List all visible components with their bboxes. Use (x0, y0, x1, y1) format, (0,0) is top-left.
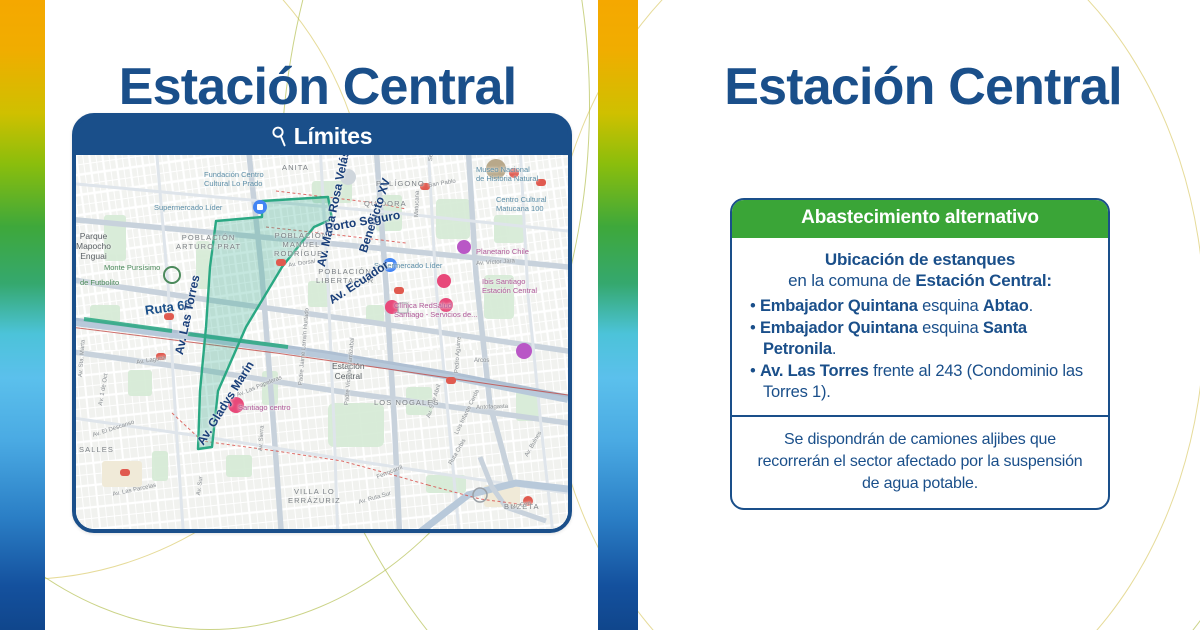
right-panel: Estación Central Abastecimiento alternat… (638, 0, 1200, 630)
info-card-body: Ubicación de estanques en la comuna de E… (732, 238, 1108, 415)
info-list-item: • Av. Las Torres frente al 243 (Condomin… (750, 361, 1090, 403)
info-list: • Embajador Quintana esquina Abtao.• Emb… (750, 296, 1090, 402)
info-item-strong: Embajador Quintana (760, 297, 918, 315)
map-card-header-label: Límites (294, 123, 372, 150)
info-item-strong: Av. Las Torres (760, 362, 869, 380)
info-item-text: esquina (918, 297, 983, 315)
info-item-text: esquina (918, 319, 983, 337)
info-card: Abastecimiento alternativo Ubicación de … (730, 198, 1110, 510)
location-pin-icon (272, 126, 287, 147)
bullet-icon: • (750, 297, 760, 315)
gradient-bar-left (0, 0, 45, 630)
infographic-root: Estación Central Límites (0, 0, 1200, 630)
left-panel: Estación Central Límites (45, 0, 598, 630)
info-item-strong: Abtao (983, 297, 1029, 315)
map-card: Límites (72, 113, 572, 533)
info-intro-line-1: Ubicación de estanques (750, 250, 1090, 271)
info-list-item: • Embajador Quintana esquina Santa Petro… (750, 318, 1090, 360)
map-graphics (76, 155, 568, 529)
page-title-right: Estación Central (642, 57, 1200, 117)
bullet-icon: • (750, 319, 760, 337)
info-item-text: . (1029, 297, 1033, 315)
bullet-icon: • (750, 362, 760, 380)
info-card-header: Abastecimiento alternativo (731, 199, 1109, 238)
map-card-header: Límites (76, 117, 568, 155)
page-title-left: Estación Central (41, 57, 594, 117)
map-viewport[interactable]: ANITAPOLÍGONOQUIDORAPOBLACIÓNARTURO PRAT… (76, 155, 568, 529)
info-footer-text: Se dispondrán de camiones aljibes que re… (732, 417, 1108, 508)
info-intro-line-2: en la comuna de Estación Central: (750, 271, 1090, 292)
info-intro-line-2-strong: Estación Central: (915, 271, 1051, 290)
info-item-strong: Embajador Quintana (760, 319, 918, 337)
info-list-item: • Embajador Quintana esquina Abtao. (750, 296, 1090, 317)
info-intro-line-2-pre: en la comuna de (788, 271, 915, 290)
gradient-bar-divider (598, 0, 638, 630)
info-item-text: . (832, 340, 836, 358)
